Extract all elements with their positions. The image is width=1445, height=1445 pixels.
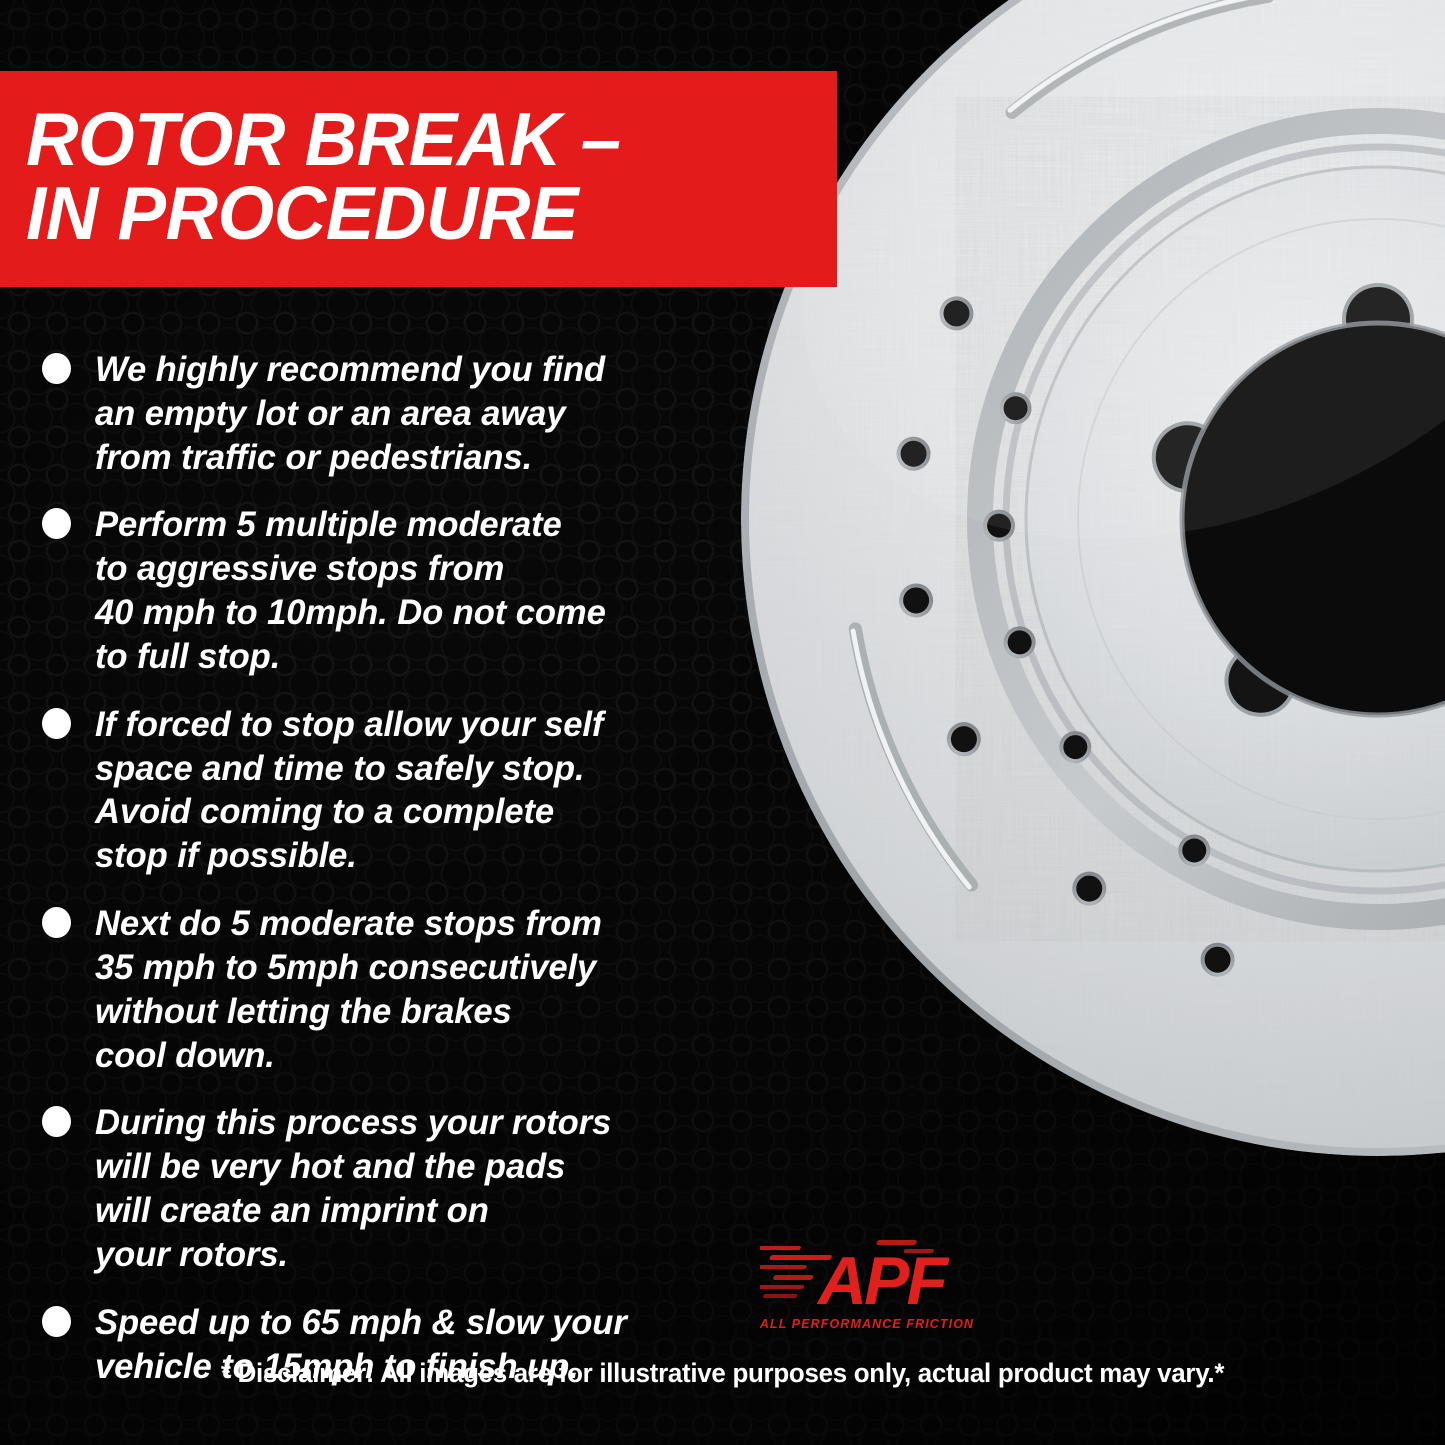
step-text: Next do 5 moderate stops from 35 mph to … <box>95 902 602 1077</box>
rotor-break-in-infographic: ROTOR BREAK – IN PROCEDURE We highly rec… <box>0 0 1445 1445</box>
bullet-dot-icon <box>42 1306 71 1337</box>
apf-wordmark: APF <box>816 1243 949 1319</box>
list-item: During this process your rotors will be … <box>42 1101 762 1276</box>
apf-tagline: ALL PERFORMANCE FRICTION <box>760 1317 974 1331</box>
title-line-1: ROTOR BREAK – <box>26 102 813 176</box>
bullet-dot-icon <box>42 353 71 384</box>
bullet-dot-icon <box>42 508 71 539</box>
step-text: Perform 5 multiple moderate to aggressiv… <box>95 503 606 678</box>
disclaimer-text: * Disclaimer: All images are for illustr… <box>29 1358 1416 1389</box>
list-item: If forced to stop allow your self space … <box>42 703 762 878</box>
bullet-dot-icon <box>42 708 71 739</box>
procedure-step-list: We highly recommend you find an empty lo… <box>42 348 762 1412</box>
title-banner: ROTOR BREAK – IN PROCEDURE <box>0 71 837 287</box>
step-text: During this process your rotors will be … <box>95 1101 611 1276</box>
step-text: If forced to stop allow your self space … <box>95 703 603 878</box>
bullet-dot-icon <box>42 1106 71 1137</box>
step-text: We highly recommend you find an empty lo… <box>95 348 605 479</box>
list-item: Perform 5 multiple moderate to aggressiv… <box>42 503 762 678</box>
title-line-2: IN PROCEDURE <box>26 176 813 250</box>
list-item: Next do 5 moderate stops from 35 mph to … <box>42 902 762 1077</box>
list-item: We highly recommend you find an empty lo… <box>42 348 762 479</box>
bullet-dot-icon <box>42 907 71 938</box>
apf-logo: APF ALL PERFORMANCE FRICTION <box>760 1232 975 1337</box>
